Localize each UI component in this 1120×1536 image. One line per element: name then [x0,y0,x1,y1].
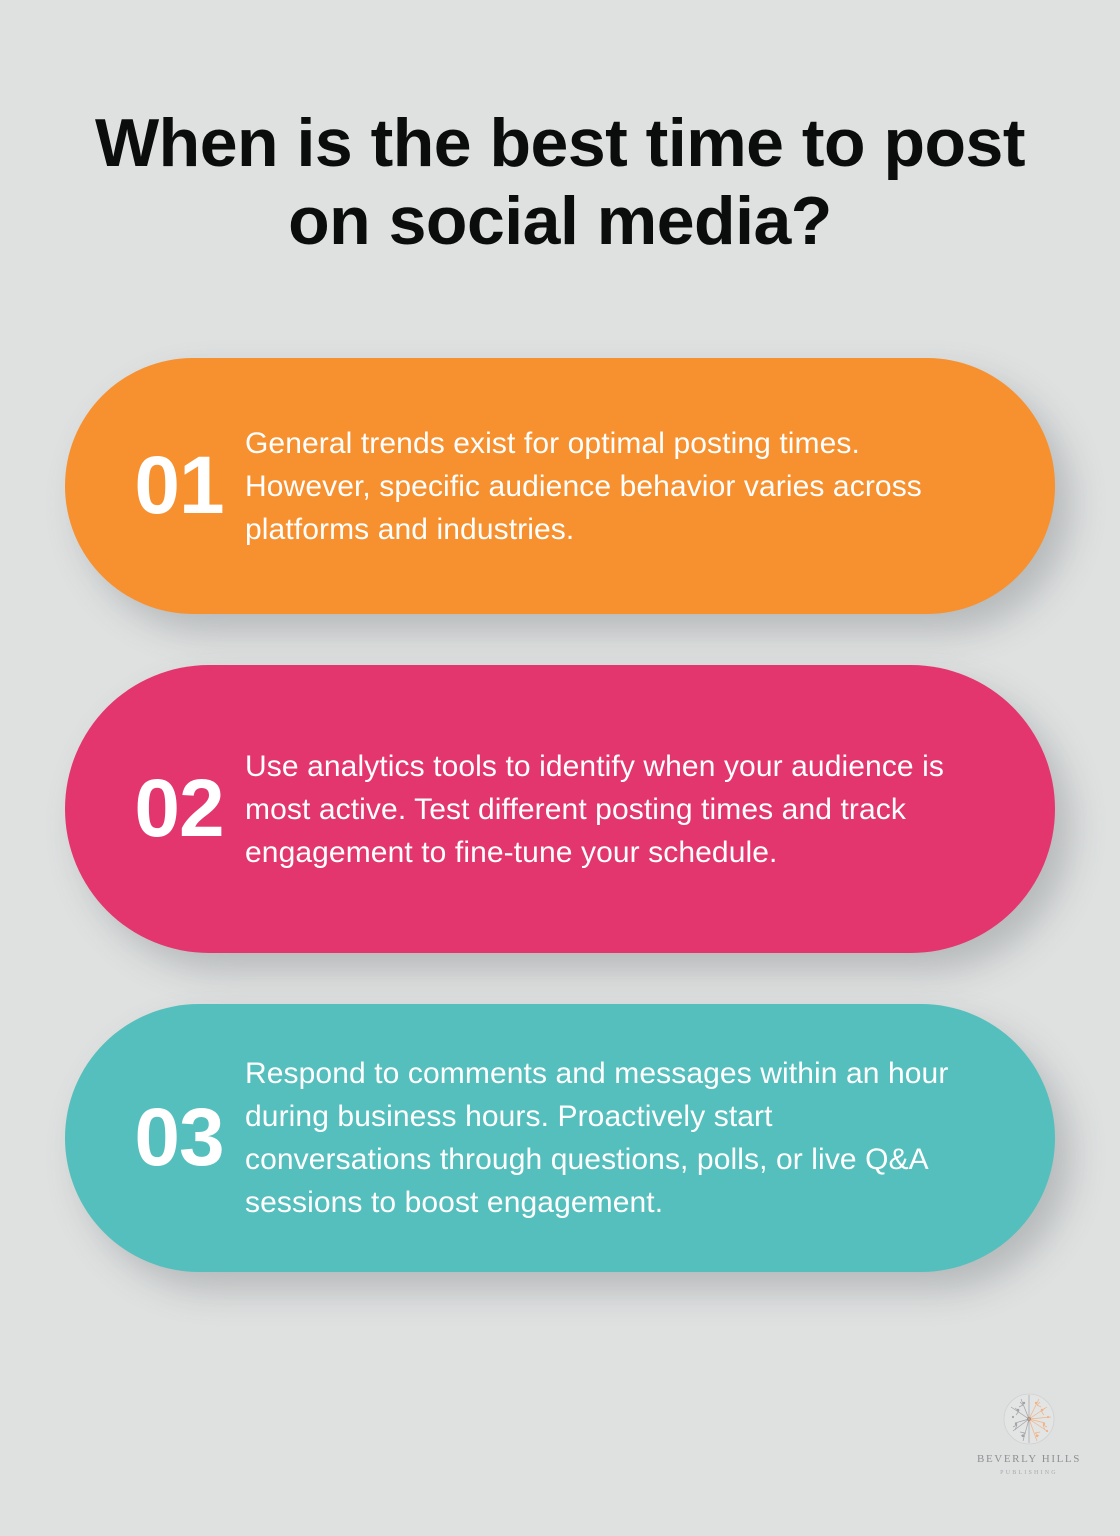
step-text-01: General trends exist for optimal posting… [245,422,1055,551]
step-number-02: 02 [65,768,245,850]
step-card-01: 01 General trends exist for optimal post… [65,358,1055,614]
step-number-03: 03 [65,1097,245,1179]
step-card-03: 03 Respond to comments and messages with… [65,1004,1055,1272]
steps-list: 01 General trends exist for optimal post… [0,358,1120,1272]
brand-subtitle: PUBLISHING [976,1468,1082,1478]
brand-name: BEVERLY HILLS [976,1453,1082,1466]
step-text-03: Respond to comments and messages within … [245,1052,1055,1224]
circular-branch-emblem-icon [1003,1393,1055,1445]
page-title-line-2: on social media? [70,182,1050,260]
step-card-02: 02 Use analytics tools to identify when … [65,665,1055,953]
step-text-02: Use analytics tools to identify when you… [245,745,1055,874]
brand-logo: BEVERLY HILLS PUBLISHING [976,1393,1082,1478]
page-title: When is the best time to post on social … [0,104,1120,260]
page-title-line-1: When is the best time to post [70,104,1050,182]
step-number-01: 01 [65,445,245,527]
infographic-poster: When is the best time to post on social … [0,0,1120,1536]
